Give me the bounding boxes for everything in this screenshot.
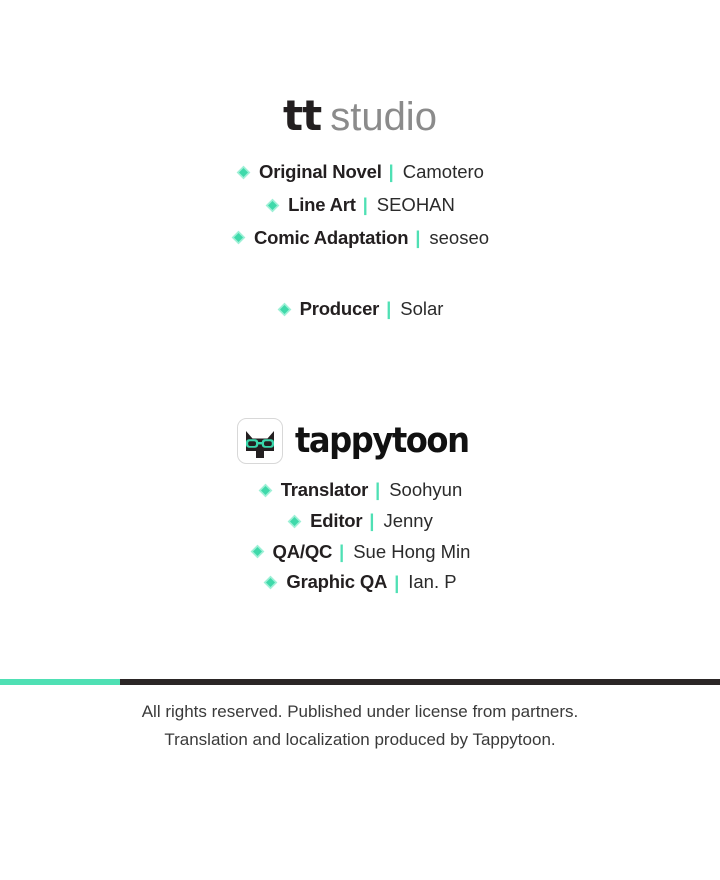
diamond-icon bbox=[277, 302, 292, 317]
credit-separator: | bbox=[386, 300, 391, 318]
credit-line: Comic Adaptation | seoseo bbox=[0, 229, 720, 250]
credits-page: ttstudio Original Novel | Camotero bbox=[0, 0, 720, 880]
tappytoon-wordmark: tappytoon bbox=[295, 424, 469, 459]
diamond-icon bbox=[236, 165, 251, 180]
diamond-icon bbox=[250, 544, 265, 559]
credit-line: Original Novel | Camotero bbox=[0, 163, 720, 184]
credit-role: Comic Adaptation bbox=[254, 229, 408, 248]
credit-line: Translator | Soohyun bbox=[0, 481, 720, 502]
footer-line: All rights reserved. Published under lic… bbox=[0, 698, 720, 726]
credit-separator: | bbox=[369, 512, 374, 530]
credit-name: seoseo bbox=[429, 229, 489, 248]
credit-line: Graphic QA | Ian. P bbox=[0, 573, 720, 594]
tappytoon-brand: tappytoon bbox=[0, 418, 720, 469]
credit-name: Camotero bbox=[403, 163, 484, 182]
credit-separator: | bbox=[375, 481, 380, 499]
credit-role: Graphic QA bbox=[286, 573, 387, 592]
tappytoon-cat-logo-icon bbox=[237, 418, 283, 464]
studio-word: studio bbox=[330, 95, 437, 139]
credit-line: Editor | Jenny bbox=[0, 512, 720, 533]
credit-role: Producer bbox=[300, 300, 380, 319]
diamond-icon bbox=[287, 514, 302, 529]
credit-line: Line Art | SEOHAN bbox=[0, 196, 720, 217]
footer-legal: All rights reserved. Published under lic… bbox=[0, 698, 720, 754]
diamond-icon bbox=[258, 483, 273, 498]
credit-role: Original Novel bbox=[259, 163, 382, 182]
credit-role: Translator bbox=[281, 481, 368, 500]
credit-line: Producer | Solar bbox=[0, 300, 720, 321]
footer-divider bbox=[0, 679, 720, 685]
diamond-icon bbox=[263, 575, 278, 590]
credit-name: Ian. P bbox=[408, 573, 456, 592]
diamond-icon bbox=[265, 198, 280, 213]
credit-name: SEOHAN bbox=[377, 196, 455, 215]
credit-name: Sue Hong Min bbox=[353, 543, 470, 562]
footer-line: Translation and localization produced by… bbox=[0, 726, 720, 754]
credit-line: QA/QC | Sue Hong Min bbox=[0, 543, 720, 564]
credit-name: Jenny bbox=[383, 512, 432, 531]
credit-name: Soohyun bbox=[389, 481, 462, 500]
credits-localization-block: Translator | Soohyun Editor | Jenny bbox=[0, 481, 720, 604]
credit-separator: | bbox=[363, 196, 368, 214]
credit-separator: | bbox=[339, 543, 344, 561]
credit-separator: | bbox=[389, 163, 394, 181]
diamond-icon bbox=[231, 230, 246, 245]
credit-name: Solar bbox=[400, 300, 443, 319]
studio-monogram: tt bbox=[283, 91, 321, 140]
credits-producer-block: Producer | Solar bbox=[0, 300, 720, 333]
credit-role: Line Art bbox=[288, 196, 356, 215]
credit-separator: | bbox=[394, 574, 399, 592]
credit-separator: | bbox=[415, 229, 420, 247]
credit-role: QA/QC bbox=[273, 543, 333, 562]
credit-role: Editor bbox=[310, 512, 362, 531]
studio-header: ttstudio bbox=[0, 95, 720, 137]
divider-dark-segment bbox=[120, 679, 720, 685]
divider-accent-segment bbox=[0, 679, 120, 685]
credits-production-block: Original Novel | Camotero Line Art | SEO… bbox=[0, 163, 720, 261]
